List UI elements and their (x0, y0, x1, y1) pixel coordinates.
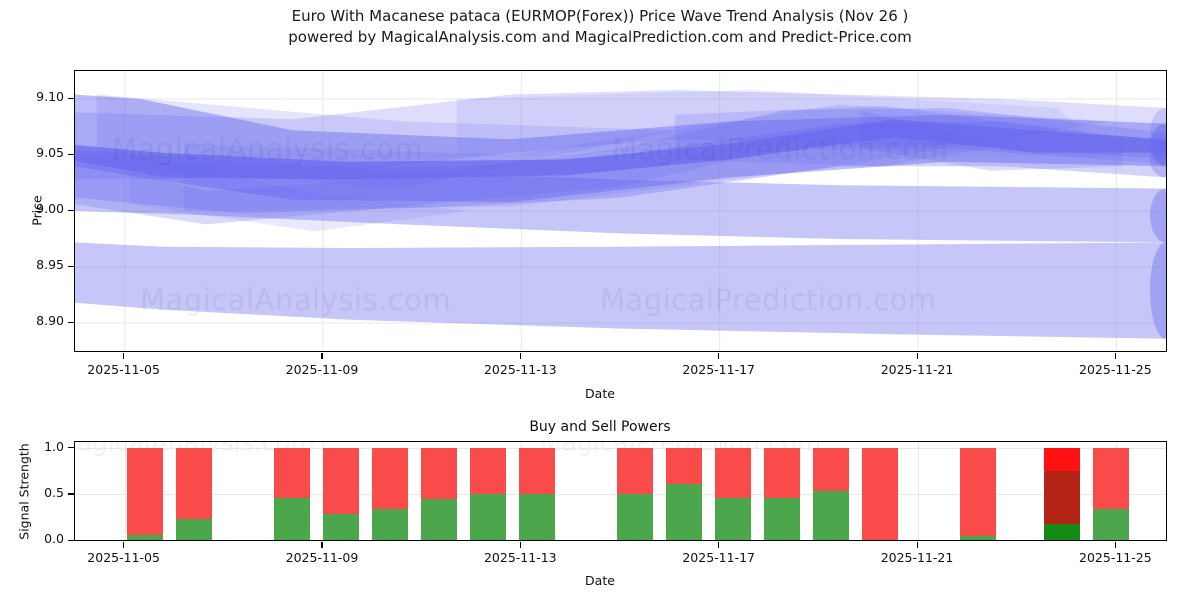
sell-power-segment[interactable] (323, 448, 359, 515)
signal-gridline-v (125, 442, 126, 540)
sell-power-segment[interactable] (519, 448, 555, 494)
price-x-tick-label: 2025-11-21 (862, 362, 972, 377)
bar-group[interactable] (1093, 448, 1129, 540)
bar-group[interactable] (176, 448, 212, 540)
sell-power-segment[interactable] (470, 448, 506, 494)
buy-power-segment[interactable] (127, 535, 163, 540)
buy-power-segment[interactable] (813, 491, 849, 540)
buy-power-segment[interactable] (519, 494, 555, 540)
buy-power-segment[interactable] (1093, 509, 1129, 540)
price-x-tick (123, 353, 124, 359)
sell-power-segment[interactable] (274, 448, 310, 499)
price-y-tick-label: 9.05 (18, 145, 64, 160)
bar-group[interactable] (323, 448, 359, 540)
sell-power-segment[interactable] (862, 448, 898, 540)
price-y-tick-label: 9.10 (18, 89, 64, 104)
sell-power-segment[interactable] (127, 448, 163, 536)
signal-x-tick-label: 2025-11-21 (862, 550, 972, 565)
buy-power-segment[interactable] (176, 519, 212, 540)
buy-power-segment[interactable] (470, 494, 506, 540)
price-y-tick (68, 322, 74, 323)
bar-group[interactable] (372, 448, 408, 540)
price-wave-chart-plot-area (74, 70, 1167, 352)
bar-group[interactable] (666, 448, 702, 540)
sell-power-segment[interactable] (715, 448, 751, 499)
price-y-tick (68, 98, 74, 99)
page-title: Euro With Macanese pataca (EURMOP(Forex)… (0, 6, 1200, 48)
bar-group[interactable] (274, 448, 310, 540)
title-line-2: powered by MagicalAnalysis.com and Magic… (0, 27, 1200, 48)
signal-x-tick (1115, 542, 1116, 548)
buy-power-segment[interactable] (372, 509, 408, 540)
bar-group[interactable] (519, 448, 555, 540)
price-y-tick (68, 210, 74, 211)
buy-power-segment[interactable] (274, 498, 310, 540)
buy-sell-chart-plot-area: MagicalAnalysis.com MagicalPrediction.co… (74, 441, 1167, 541)
buy-power-segment[interactable] (617, 494, 653, 540)
signal-x-tick (917, 542, 918, 548)
signal-gridline-v (918, 442, 919, 540)
buy-power-segment[interactable] (323, 514, 359, 540)
signal-x-tick-label: 2025-11-17 (664, 550, 774, 565)
buy-power-segment[interactable] (1044, 524, 1080, 540)
sell-power-dark-segment[interactable] (1044, 471, 1080, 525)
price-x-tick-label: 2025-11-17 (664, 362, 774, 377)
price-x-tick (321, 353, 322, 359)
price-x-tick-label: 2025-11-13 (465, 362, 575, 377)
bar-group[interactable] (715, 448, 751, 540)
price-y-tick-label: 8.90 (18, 313, 64, 328)
bar-group[interactable] (470, 448, 506, 540)
signal-x-tick-label: 2025-11-05 (69, 550, 179, 565)
bar-group[interactable] (764, 448, 800, 540)
buy-sell-chart-title: Buy and Sell Powers (0, 419, 1200, 435)
bar-group[interactable] (127, 448, 163, 540)
price-x-tick (1115, 353, 1116, 359)
signal-x-axis-label: Date (0, 573, 1200, 588)
price-x-tick (917, 353, 918, 359)
signal-y-tick (68, 493, 74, 494)
sell-power-segment[interactable] (960, 448, 996, 537)
bar-group[interactable] (421, 448, 457, 540)
sell-power-segment[interactable] (617, 448, 653, 494)
buy-power-segment[interactable] (666, 484, 702, 540)
signal-x-tick-label: 2025-11-09 (267, 550, 377, 565)
signal-y-axis-label: Signal Strength (17, 422, 32, 562)
price-x-tick-label: 2025-11-25 (1060, 362, 1170, 377)
buy-power-segment[interactable] (421, 499, 457, 540)
bar-group[interactable] (960, 448, 996, 540)
signal-x-tick (123, 542, 124, 548)
sell-power-segment[interactable] (666, 448, 702, 484)
price-x-tick (718, 353, 719, 359)
bar-group[interactable] (1044, 448, 1080, 540)
signal-x-tick (321, 542, 322, 548)
band-lower-support-band (75, 242, 1166, 338)
sell-power-segment[interactable] (813, 448, 849, 491)
sell-power-bright-segment[interactable] (1044, 448, 1080, 471)
bar-group[interactable] (813, 448, 849, 540)
price-y-tick (68, 266, 74, 267)
bar-group[interactable] (617, 448, 653, 540)
price-y-tick-label: 8.95 (18, 257, 64, 272)
price-x-tick-label: 2025-11-05 (69, 362, 179, 377)
price-x-tick (520, 353, 521, 359)
price-x-axis-label: Date (0, 386, 1200, 401)
sell-power-segment[interactable] (372, 448, 408, 510)
buy-power-segment[interactable] (960, 536, 996, 540)
title-line-1: Euro With Macanese pataca (EURMOP(Forex)… (0, 6, 1200, 27)
signal-y-tick (68, 540, 74, 541)
signal-y-tick (68, 447, 74, 448)
sell-power-segment[interactable] (764, 448, 800, 499)
signal-x-tick-label: 2025-11-13 (465, 550, 575, 565)
buy-power-segment[interactable] (764, 498, 800, 540)
price-y-tick (68, 154, 74, 155)
sell-power-segment[interactable] (421, 448, 457, 500)
price-wave-bands-svg (75, 71, 1166, 351)
signal-gridline-h (75, 540, 1166, 541)
sell-power-segment[interactable] (1093, 448, 1129, 510)
buy-power-segment[interactable] (715, 498, 751, 540)
signal-x-tick-label: 2025-11-25 (1060, 550, 1170, 565)
chart-page: Euro With Macanese pataca (EURMOP(Forex)… (0, 0, 1200, 600)
signal-x-tick (718, 542, 719, 548)
sell-power-segment[interactable] (176, 448, 212, 519)
bar-group[interactable] (862, 448, 898, 540)
price-y-axis-label: Price (30, 171, 45, 251)
signal-x-tick (520, 542, 521, 548)
price-x-tick-label: 2025-11-09 (267, 362, 377, 377)
